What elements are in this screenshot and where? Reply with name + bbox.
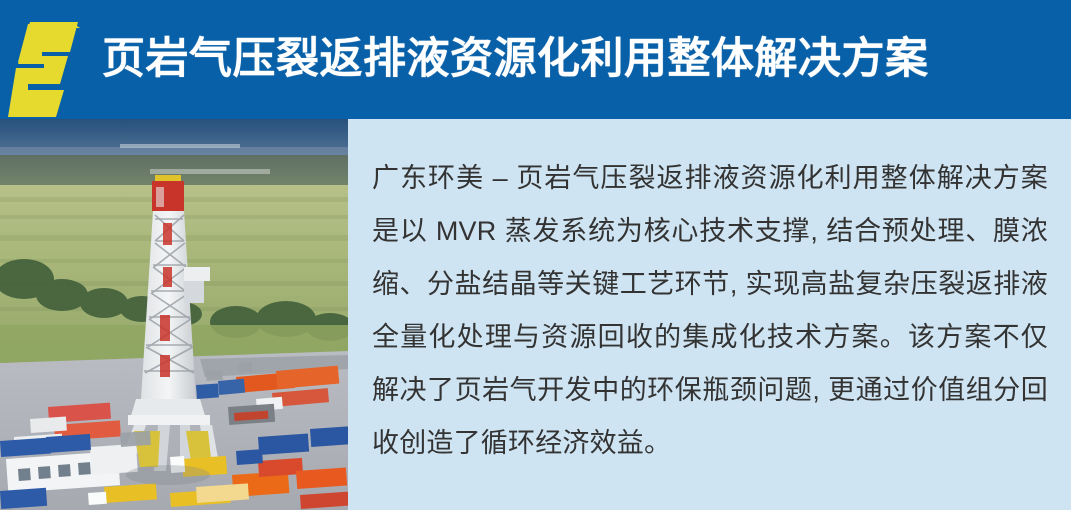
- slide-page: 页岩气压裂返排液资源化利用整体解决方案: [0, 0, 1071, 510]
- header-bar: 页岩气压裂返排液资源化利用整体解决方案: [0, 0, 1071, 119]
- description-paragraph: 广东环美 – 页岩气压裂返排液资源化利用整体解决方案是以 MVR 蒸发系统为核心…: [372, 152, 1048, 470]
- section-number-badge: [0, 0, 104, 119]
- number-two-icon: [0, 0, 104, 119]
- drilling-rig-photo: [0, 119, 348, 510]
- drilling-rig-illustration: [0, 119, 348, 510]
- page-title: 页岩气压裂返排液资源化利用整体解决方案: [102, 38, 929, 81]
- content-area: 广东环美 – 页岩气压裂返排液资源化利用整体解决方案是以 MVR 蒸发系统为核心…: [0, 119, 1071, 510]
